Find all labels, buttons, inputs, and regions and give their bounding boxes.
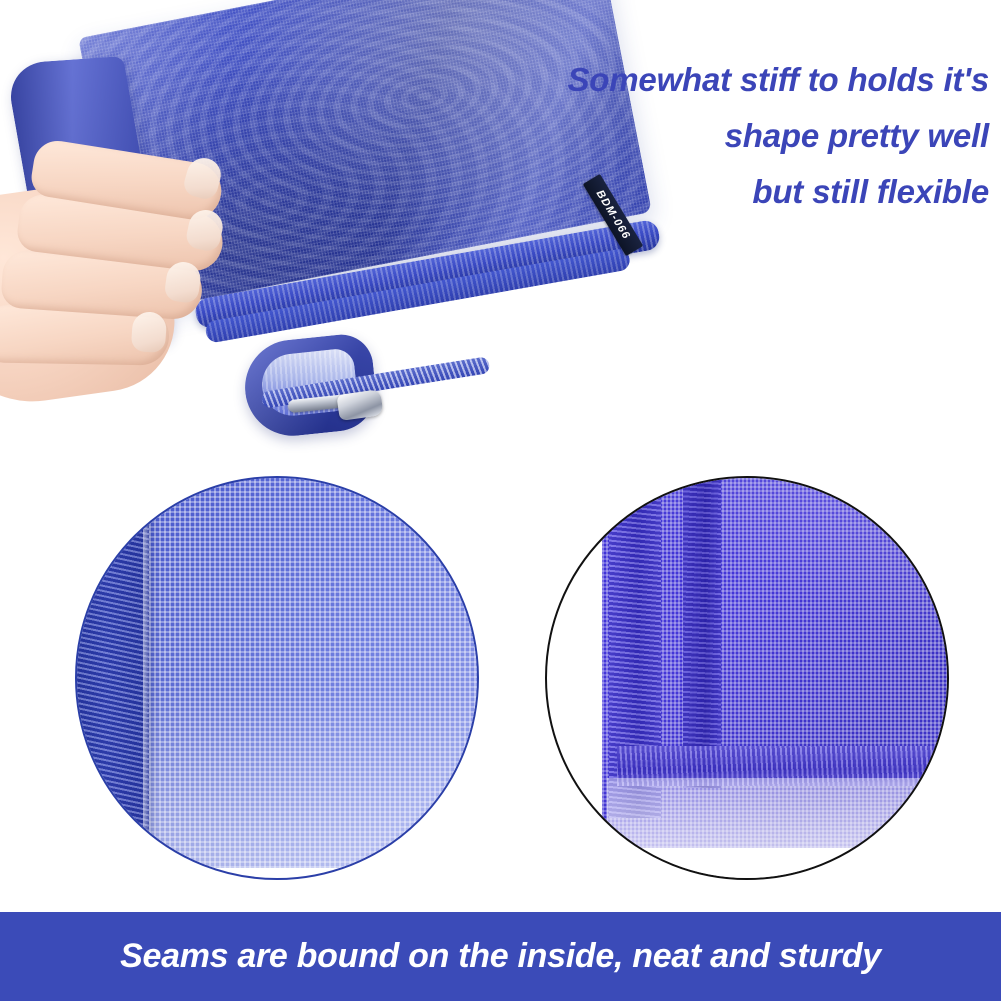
bound-seam-band bbox=[77, 476, 149, 880]
model-hand bbox=[0, 130, 270, 410]
mesh-sheet bbox=[139, 476, 479, 868]
seam-edge-highlight bbox=[143, 476, 151, 880]
bottom-banner: Seams are bound on the inside, neat and … bbox=[0, 912, 1001, 1001]
seam-edge-closeup-photo bbox=[77, 478, 477, 878]
corner-wrap bbox=[547, 478, 947, 878]
inside-corner-closeup-photo bbox=[547, 478, 947, 878]
headline-line-3: but still flexible bbox=[469, 164, 989, 220]
bottom-banner-text: Seams are bound on the inside, neat and … bbox=[120, 937, 881, 976]
corner-seam-vertical-secondary bbox=[683, 476, 721, 788]
corner-bottom-highlight bbox=[607, 778, 949, 880]
detail-circle-seam-edge bbox=[75, 476, 479, 880]
hand-nail-little bbox=[131, 311, 168, 353]
product-feature-image: BDM-066 Somewhat stiff to holds it's sha… bbox=[0, 0, 1001, 1001]
headline-line-1: Somewhat stiff to holds it's bbox=[469, 52, 989, 108]
zipper-slider bbox=[336, 389, 383, 421]
headline-text: Somewhat stiff to holds it's shape prett… bbox=[469, 52, 989, 220]
headline-line-2: shape pretty well bbox=[469, 108, 989, 164]
detail-circle-inside-corner bbox=[545, 476, 949, 880]
mesh-weave-texture bbox=[139, 476, 479, 868]
